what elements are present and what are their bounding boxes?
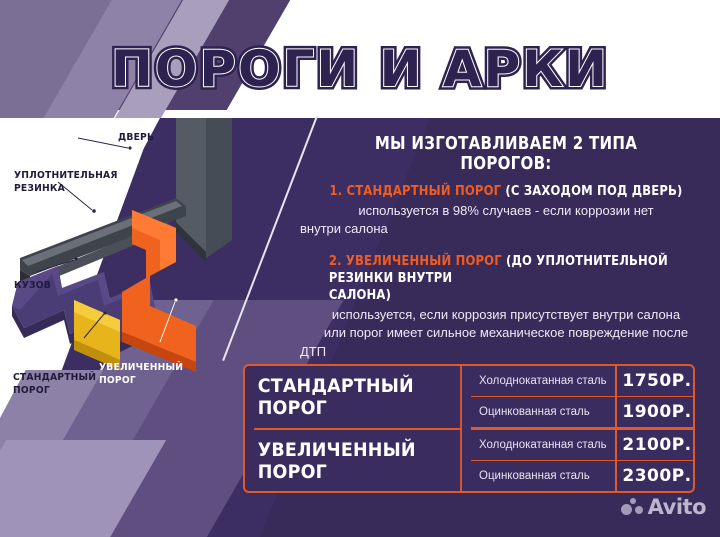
content-item2-title: 2. УВЕЛИЧЕННЫЙ ПОРОГ (ДО УПЛОТНИТЕЛЬНОЙ … [329, 253, 683, 304]
price-value-standard-galv: 1900Р. [617, 397, 695, 428]
content-column: МЫ ИЗГОТАВЛИВАЕМ 2 ТИПА ПОРОГОВ: 1. СТАН… [300, 134, 712, 362]
label-enlarged-sill: УВЕЛИЧЕННЫЙ ПОРОГ [99, 362, 183, 387]
avito-watermark: Avito [621, 495, 706, 519]
price-material-standard-galv: Оцинкованная сталь [471, 397, 617, 428]
price-table: СТАНДАРТНЫЙ ПОРОГ Холоднокатанная сталь … [243, 364, 695, 493]
label-body: КУЗОВ [14, 280, 51, 293]
price-material-enlarged-galv: Оцинкованная сталь [471, 461, 617, 491]
content-item1-title: 1. СТАНДАРТНЫЙ ПОРОГ (С ЗАХОДОМ ПОД ДВЕР… [329, 183, 683, 200]
sill-cross-section-diagram [0, 110, 300, 390]
price-row-name-enlarged: УВЕЛИЧЕННЫЙ ПОРОГ [254, 428, 462, 491]
content-item1-rest: (С ЗАХОДОМ ПОД ДВЕРЬ) [501, 183, 682, 199]
page-title-stroke: ПОРОГИ И АРКИ [0, 40, 720, 98]
content-item2-body2: или порог имеет сильное механическое пов… [300, 325, 712, 341]
leader-dot-standard [103, 311, 106, 314]
content-item1-accent: 1. СТАНДАРТНЫЙ ПОРОГ [329, 183, 501, 199]
label-enlarged-sill-line1: УВЕЛИЧЕННЫЙ [99, 362, 183, 375]
content-item2-accent: 2. УВЕЛИЧЕННЫЙ ПОРОГ [329, 253, 502, 269]
leader-dot-door [128, 146, 131, 149]
leader-dot-rubber [92, 209, 96, 213]
poster-root: ПОРОГИ И АРКИ ПОРОГИ И АРКИ [0, 0, 720, 537]
label-standard-sill: СТАНДАРТНЫЙ ПОРОГ [13, 372, 96, 397]
price-value-enlarged-cold: 2100Р. [617, 428, 695, 461]
content-item2-body3: ДТП [300, 344, 712, 360]
label-standard-sill-line2: ПОРОГ [13, 385, 96, 398]
avito-wordmark: Avito [648, 495, 706, 519]
label-standard-sill-line1: СТАНДАРТНЫЙ [13, 372, 96, 385]
price-material-standard-cold: Холоднокатанная сталь [471, 366, 617, 397]
price-value-enlarged-galv: 2300Р. [617, 461, 695, 491]
content-item2-body1: используется, если коррозия присутствует… [300, 307, 712, 323]
content-item2-rest2: САЛОНА) [329, 287, 683, 304]
content-heading: МЫ ИЗГОТАВЛИВАЕМ 2 ТИПА ПОРОГОВ: [329, 134, 683, 174]
label-sealing-rubber: УПЛОТНИТЕЛЬНАЯ РЕЗИНКА [14, 170, 118, 195]
price-material-enlarged-cold: Холоднокатанная сталь [471, 428, 617, 461]
label-sealing-rubber-line2: РЕЗИНКА [14, 183, 118, 196]
label-door: ДВЕРЬ [118, 132, 154, 145]
leader-dot-body [74, 257, 77, 260]
content-item1-body1: используется в 98% случаев - если корроз… [300, 203, 712, 219]
leader-dot-enlarged [174, 298, 177, 301]
price-value-standard-cold: 1750Р. [617, 366, 695, 397]
avito-logo-icon [621, 498, 643, 516]
door-shade [206, 118, 232, 258]
content-item1-body2: внутри салона [300, 221, 712, 237]
label-enlarged-sill-line2: ПОРОГ [99, 375, 183, 388]
label-sealing-rubber-line1: УПЛОТНИТЕЛЬНАЯ [14, 170, 118, 183]
